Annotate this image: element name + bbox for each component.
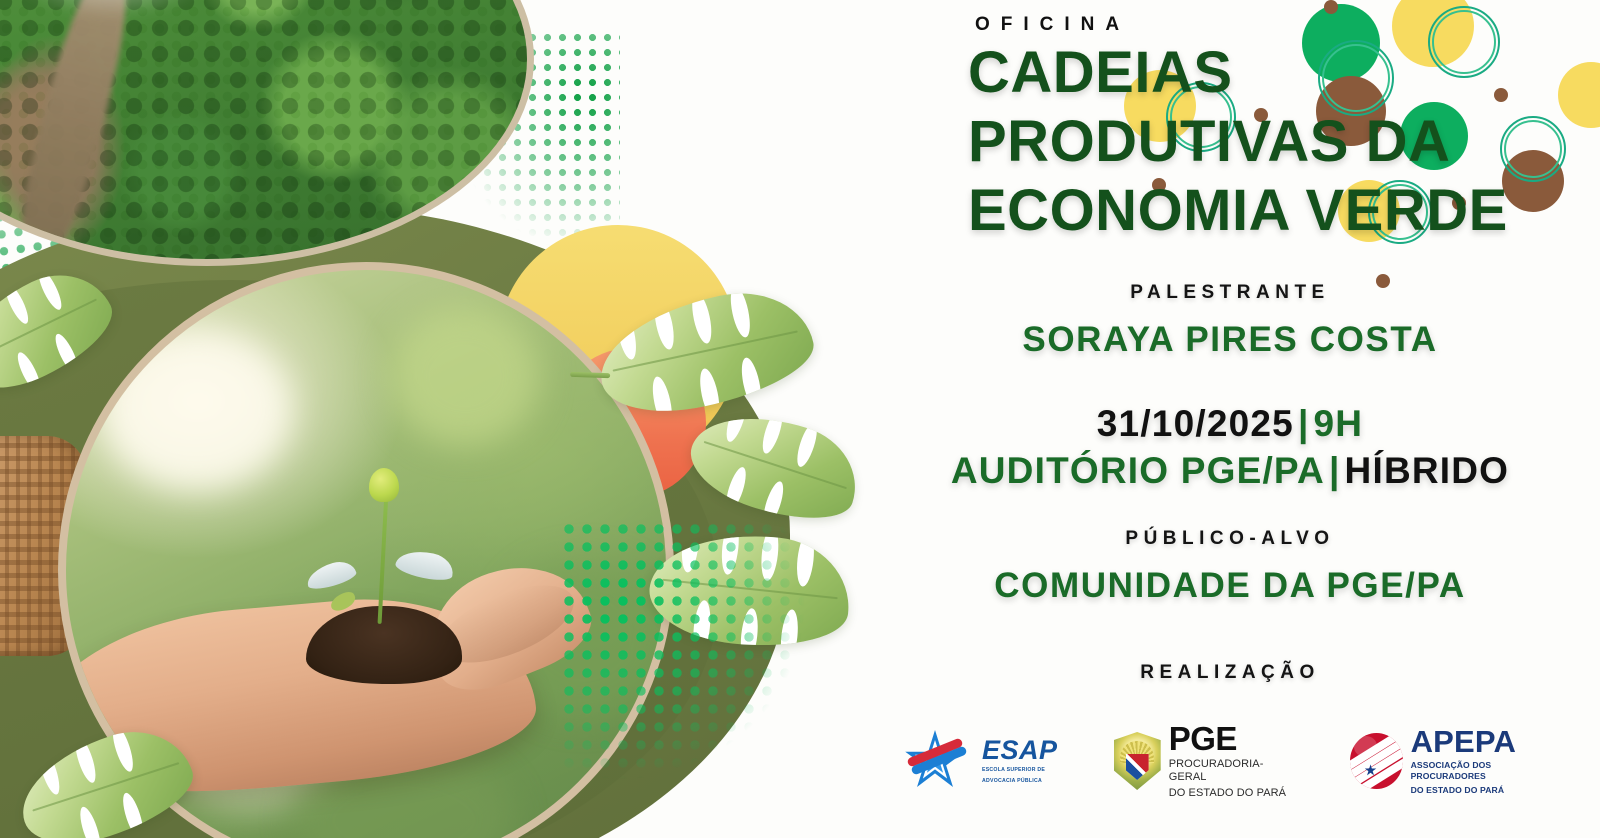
sprout-leaf: [394, 546, 456, 583]
poster-canvas: OFICINA CADEIAS PRODUTIVAS DA ECONOMIA V…: [0, 0, 1600, 838]
leaf-fenestration: [795, 532, 817, 587]
realization-label: REALIZAÇÃO: [860, 662, 1600, 684]
event-format: HÍBRIDO: [1345, 450, 1510, 491]
pge-name: PGE: [1169, 722, 1294, 755]
sprout-bud: [369, 468, 399, 502]
event-kicker: OFICINA: [975, 14, 1130, 36]
leaf-fenestration: [727, 285, 753, 339]
info-panel: OFICINA CADEIAS PRODUTIVAS DA ECONOMIA V…: [860, 0, 1600, 838]
audience-section: PÚBLICO-ALVO COMUNIDADE DA PGE/PA: [860, 528, 1600, 606]
pge-subtitle-line-1: PROCURADORIA-GERAL: [1169, 758, 1294, 784]
monstera-leaf: [645, 525, 855, 655]
speaker-label: PALESTRANTE: [860, 282, 1600, 304]
bokeh-highlight: [390, 306, 540, 446]
leaf-fenestration: [76, 805, 104, 838]
leaf-fenestration: [793, 421, 821, 469]
forest-aerial-photo: [0, 0, 534, 266]
mist-overlay: [2, 0, 222, 19]
date-time-line: 31/10/2025|9H: [860, 400, 1600, 447]
esap-star-icon: [900, 726, 974, 796]
esap-wordmark: ESAP ESCOLA SUPERIOR DE ADVOCACIA PÚBLIC…: [982, 737, 1058, 784]
venue-format-line: AUDITÓRIO PGE/PA|HÍBRIDO: [860, 447, 1600, 494]
esap-logo: ESAP ESCOLA SUPERIOR DE ADVOCACIA PÚBLIC…: [900, 726, 1058, 796]
pge-coat-of-arms-icon: [1114, 732, 1161, 790]
separator-icon: |: [1294, 403, 1314, 444]
esap-subtitle-line-2: ADVOCACIA PÚBLICA: [982, 778, 1058, 785]
esap-name: ESAP: [982, 737, 1058, 764]
artwork-panel: [0, 0, 900, 838]
audience-label: PÚBLICO-ALVO: [860, 528, 1600, 550]
pge-subtitle-line-2: DO ESTADO DO PARÁ: [1169, 787, 1294, 800]
event-venue: AUDITÓRIO PGE/PA: [951, 450, 1325, 491]
event-date: 31/10/2025: [1097, 403, 1294, 444]
pge-logo: PGE PROCURADORIA-GERAL DO ESTADO DO PARÁ: [1114, 722, 1294, 801]
title-line-3: ECONOMIA VERDE: [968, 176, 1600, 245]
datetime-venue-section: 31/10/2025|9H AUDITÓRIO PGE/PA|HÍBRIDO: [860, 400, 1600, 495]
apepa-wordmark: APEPA ASSOCIAÇÃO DOS PROCURADORES DO EST…: [1411, 726, 1560, 797]
event-time: 9H: [1314, 403, 1364, 444]
leaf-fenestration: [779, 609, 801, 655]
leaf-fenestration: [680, 525, 702, 573]
sprout-leaf: [304, 558, 358, 593]
apepa-globe-icon: [1350, 733, 1403, 789]
apepa-subtitle-line-1: ASSOCIAÇÃO DOS PROCURADORES: [1411, 760, 1560, 782]
realization-section: REALIZAÇÃO: [860, 662, 1600, 684]
title-line-1: CADEIAS: [968, 38, 1600, 107]
apepa-name: APEPA: [1411, 726, 1560, 757]
page-title: CADEIAS PRODUTIVAS DA ECONOMIA VERDE: [968, 38, 1600, 245]
speaker-section: PALESTRANTE SORAYA PIRES COSTA: [860, 282, 1600, 360]
separator-icon: |: [1325, 450, 1345, 491]
esap-subtitle-line-1: ESCOLA SUPERIOR DE: [982, 767, 1058, 774]
logo-row: ESAP ESCOLA SUPERIOR DE ADVOCACIA PÚBLIC…: [900, 706, 1560, 816]
speaker-name: SORAYA PIRES COSTA: [860, 320, 1600, 360]
leaf-fenestration: [758, 407, 786, 455]
apepa-subtitle-line-2: DO ESTADO DO PARÁ: [1411, 785, 1560, 796]
apepa-logo: APEPA ASSOCIAÇÃO DOS PROCURADORES DO EST…: [1350, 726, 1560, 797]
audience-value: COMUNIDADE DA PGE/PA: [860, 566, 1600, 606]
title-line-2: PRODUTIVAS DA: [968, 107, 1600, 176]
bokeh-highlight: [102, 330, 292, 490]
pge-wordmark: PGE PROCURADORIA-GERAL DO ESTADO DO PARÁ: [1169, 722, 1294, 801]
